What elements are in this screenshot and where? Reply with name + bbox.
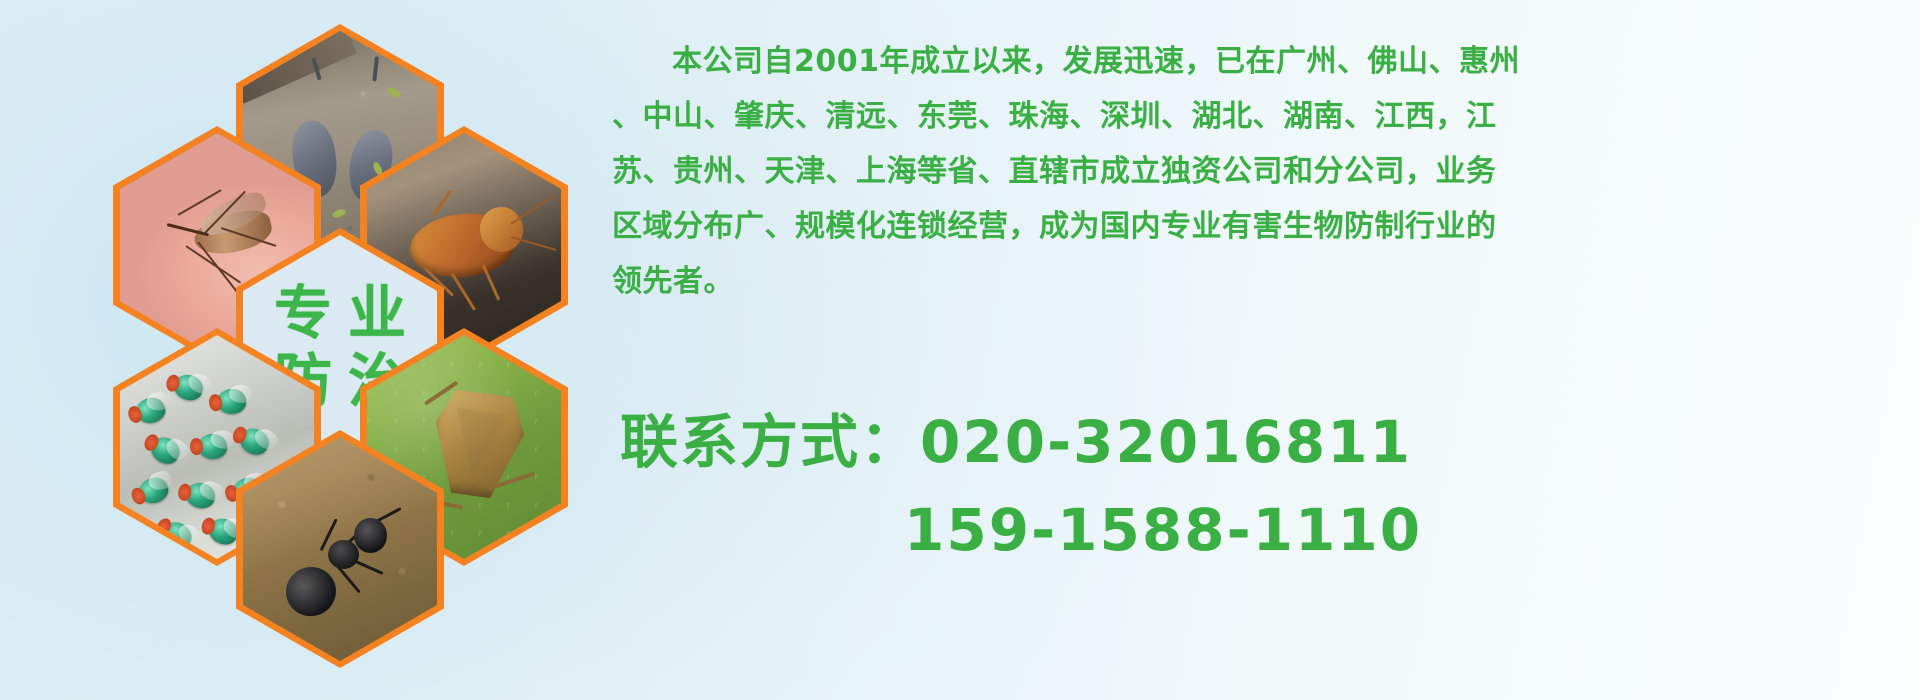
contact-phone-landline[interactable]: 联系方式：020-32016811 <box>620 398 1920 486</box>
ant-photo-art <box>243 437 437 661</box>
about-line-1: 本公司自2001年成立以来，发展迅速，已在广州、佛山、惠州 <box>612 34 1910 89</box>
about-line-5: 领先者。 <box>612 254 1910 309</box>
about-line-4: 区域分布广、规模化连锁经营，成为国内专业有害生物防制行业的 <box>612 199 1910 254</box>
about-line-2: 、中山、肇庆、清远、东莞、珠海、深圳、湖北、湖南、江西，江 <box>612 89 1910 144</box>
promo-banner: 专业 防治 <box>0 0 1920 700</box>
about-line-3: 苏、贵州、天津、上海等省、直辖市成立独资公司和分公司，业务 <box>612 144 1910 199</box>
about-paragraph: 本公司自2001年成立以来，发展迅速，已在广州、佛山、惠州 、中山、肇庆、清远、… <box>612 34 1910 309</box>
hexagon-photo-cluster: 专业 防治 <box>88 8 588 556</box>
logo-line-1: 专业 <box>258 279 422 347</box>
contact-phone-mobile[interactable]: 159-1588-1110 <box>620 486 1920 574</box>
contact-block: 联系方式：020-32016811 159-1588-1110 <box>620 398 1920 574</box>
hex-photo-ant-inner <box>243 437 437 661</box>
